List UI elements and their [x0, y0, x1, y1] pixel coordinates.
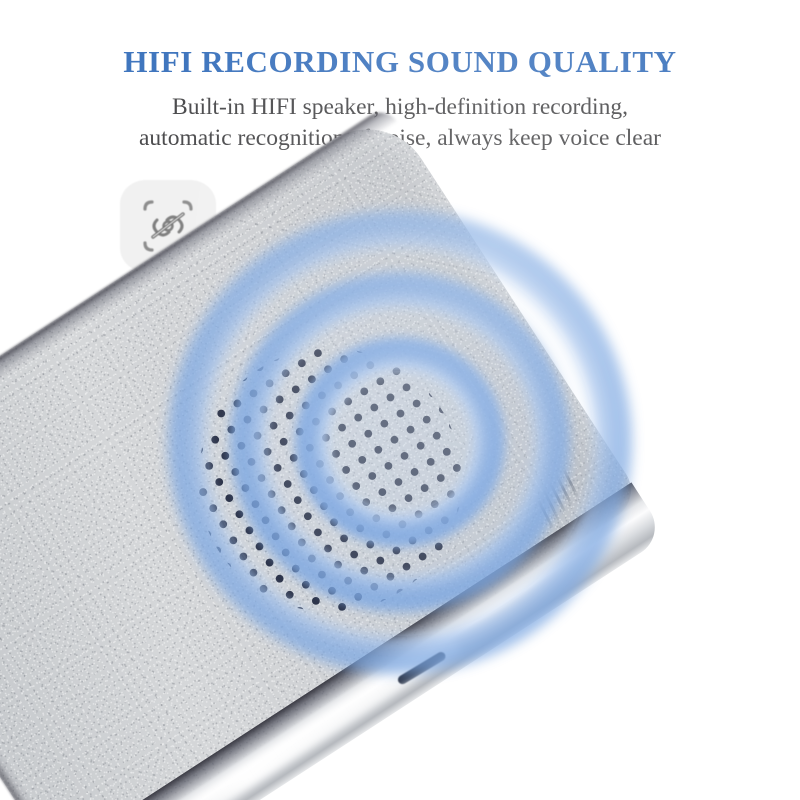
wave-ring-inner-fill — [329, 371, 471, 513]
product-feature-banner: HIFI RECORDING SOUND QUALITY Built-in HI… — [0, 0, 800, 800]
sound-wave-rings — [0, 0, 800, 800]
